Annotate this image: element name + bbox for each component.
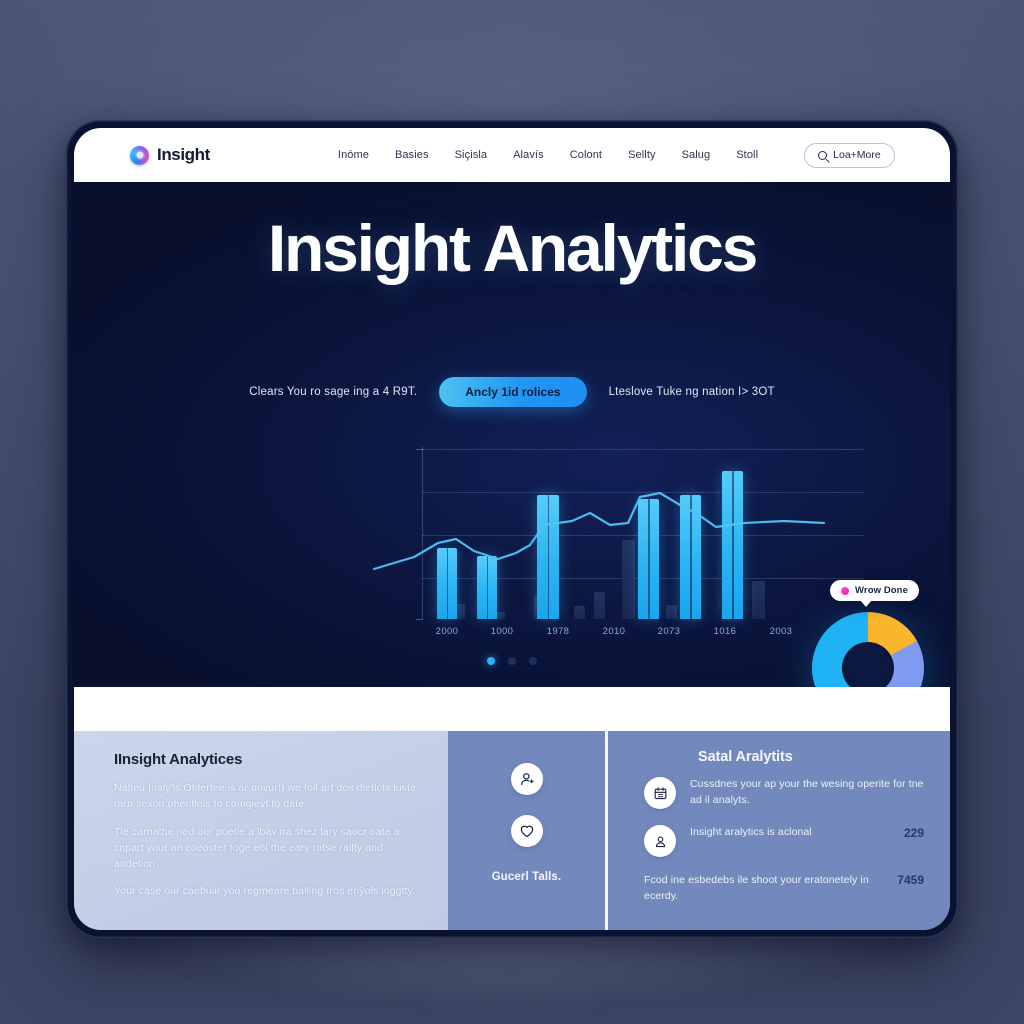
chart-x-label: 1016 [714,626,737,637]
nav-link-4[interactable]: Alavís [513,149,544,161]
donut-ring [812,612,924,687]
hero-subtitle-left: Clears You ro sage ing a 4 R9T. [249,386,417,398]
list-item-text: Insight aralytics is aclonal [690,825,812,841]
card-stats-title: Satal Aralytits [698,749,924,765]
chart-x-label: 2010 [603,626,626,637]
insight-logo-icon [130,146,149,165]
card-overview-paragraph: Natieu Inaly'ls Otifertee is ar uovurt) … [114,780,420,813]
chart-x-label: 2073 [658,626,681,637]
bottom-section: IInsight Analyticеs Natieu Inaly'ls Otif… [74,731,950,930]
list-item-value: 229 [894,826,924,840]
card-actions: Gucerl Talls. [448,731,608,930]
card-overview-paragraph: Tle carnathe ned our poetle a lbav ira s… [114,824,420,873]
brand-logo[interactable]: Insight [130,145,210,165]
page-title: Insight Analytics [74,210,950,286]
list-item[interactable]: Cussdnes your ap your the wesing operite… [644,777,924,809]
list-item-text: Cussdnes your ap your the wesing operite… [690,777,924,809]
nav-link-1[interactable]: Inóme [338,149,369,161]
hero-section: Insight Analytics Clears You ro sage ing… [74,182,950,687]
analytics-chart: 2000 1000 1978 2010 2073 1016 2003 [404,447,824,637]
nav-link-7[interactable]: Salug [682,149,711,161]
stats-note-value: 7459 [887,873,924,887]
chart-trend-line [404,447,824,637]
calendar-icon [644,777,676,809]
nav-link-2[interactable]: Basies [395,149,429,161]
hero-cta-button[interactable]: Ancly 1id rolices [439,377,586,407]
brand-name-label: Insight [157,145,210,165]
carousel-dots [74,657,950,665]
carousel-dot-1[interactable] [487,657,495,665]
card-actions-label: Gucerl Talls. [492,871,561,883]
hero-subtitle-right: Lteslove Tuke ng nation I> 3OT [609,386,775,398]
hero-subtitle-row: Clears You ro sage ing a 4 R9T. Ancly 1i… [74,377,950,407]
donut-chart: Wrow Done [812,612,936,687]
badge-dot-icon [841,587,849,595]
nav-link-5[interactable]: Colont [570,149,602,161]
status-badge[interactable]: Wrow Done [830,580,919,601]
top-navbar: Insight Inóme Basies Siçisla Alavís Colo… [74,128,950,182]
heart-icon[interactable] [511,815,543,847]
stats-note-text: Fcod ine esbedebs ile shoot your eratone… [644,873,877,905]
user-profile-icon[interactable] [511,763,543,795]
chart-x-label: 2003 [770,626,793,637]
card-overview-title: IInsight Analyticеs [114,751,420,768]
device-screen: Insight Inóme Basies Siçisla Alavís Colo… [74,128,950,930]
list-item[interactable]: Insight aralytics is aclonal 229 [644,825,924,857]
card-overview: IInsight Analyticеs Natieu Inaly'ls Otif… [74,731,448,930]
section-divider [74,687,950,731]
carousel-dot-2[interactable] [508,657,516,665]
chart-x-label: 2000 [436,626,459,637]
search-icon [818,151,827,160]
card-stats: Satal Aralytits Cussdnes your ap your th… [608,731,950,930]
nav-links: Inóme Basies Siçisla Alavís Colont Sellt… [338,143,895,168]
chart-x-label: 1000 [491,626,514,637]
nav-link-3[interactable]: Siçisla [455,149,488,161]
user-card-icon [644,825,676,857]
nav-link-6[interactable]: Sellty [628,149,656,161]
learn-more-label: Loa+More [833,149,881,161]
learn-more-button[interactable]: Loa+More [804,143,895,168]
device-frame: Insight Inóme Basies Siçisla Alavís Colo… [66,120,958,938]
carousel-dot-3[interactable] [529,657,537,665]
chart-x-labels: 2000 1000 1978 2010 2073 1016 2003 [426,621,824,637]
stats-note: Fcod ine esbedebs ile shoot your eratone… [644,873,924,905]
nav-link-8[interactable]: Stoll [736,149,758,161]
status-badge-label: Wrow Done [855,585,908,596]
card-overview-paragraph: Your case our caebulir yoo regmeare ball… [114,883,420,899]
chart-x-label: 1978 [547,626,570,637]
